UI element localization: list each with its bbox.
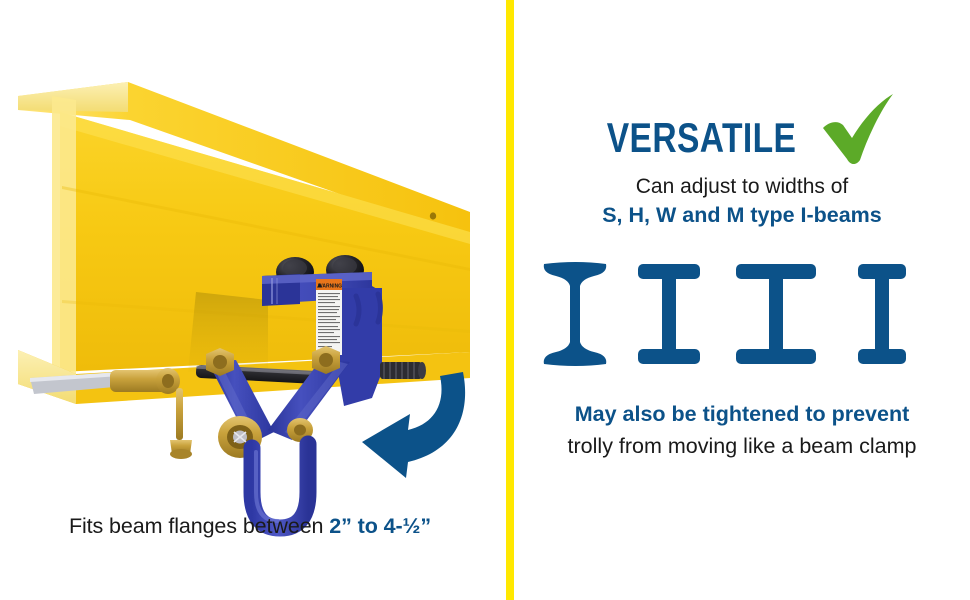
- i-beam-icon-w: [736, 264, 816, 364]
- feature-footer-1: May also be tightened to prevent: [514, 402, 970, 427]
- left-jaw-bracket: [30, 368, 192, 459]
- i-beam-icon-s: [544, 262, 607, 366]
- warning-label: WARNING: [316, 279, 342, 355]
- product-photo: WARNING: [0, 0, 500, 600]
- curved-arrow-pointing-to-product: [362, 372, 465, 478]
- warning-label-title: WARNING: [318, 284, 342, 290]
- page-title: VERSATILE: [607, 117, 797, 159]
- i-beam-icon-m: [858, 264, 906, 364]
- feature-panel: VERSATILE Can adjust to widths of S, H, …: [514, 0, 970, 600]
- caption-prefix: Fits beam flanges between: [69, 514, 329, 538]
- product-photo-panel: WARNING: [0, 0, 500, 600]
- infographic-page: WARNING: [0, 0, 970, 600]
- headline-row: VERSATILE: [514, 110, 970, 166]
- feature-footer-2: trolly from moving like a beam clamp: [514, 434, 970, 459]
- photo-caption: Fits beam flanges between 2” to 4-½”: [0, 514, 500, 539]
- i-beam-profile-icons: [514, 258, 970, 370]
- feature-subtitle-2: S, H, W and M type I-beams: [514, 203, 970, 228]
- feature-subtitle-1: Can adjust to widths of: [514, 175, 970, 199]
- tightening-screw: [380, 362, 426, 379]
- yellow-i-beam: [18, 82, 470, 404]
- vertical-divider: [506, 0, 514, 600]
- i-beam-icon-h: [638, 264, 700, 364]
- caption-highlight: 2” to 4-½”: [329, 514, 431, 538]
- green-check-icon: [815, 92, 901, 166]
